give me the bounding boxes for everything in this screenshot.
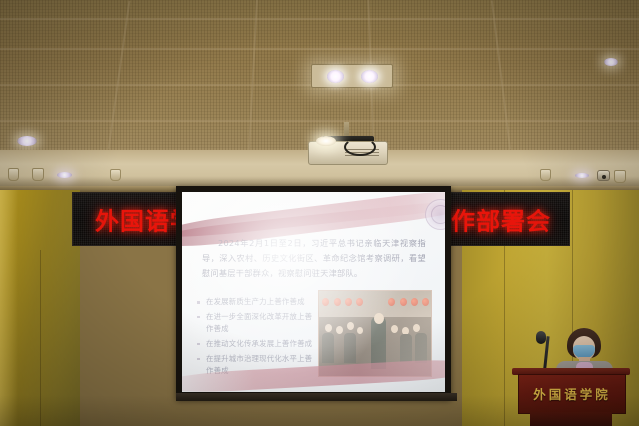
ceiling-speaker-4 xyxy=(540,169,551,181)
ceiling-downlight-right xyxy=(604,58,618,66)
presentation-slide: 2024年2月1日至2日，习近平总书记亲临天津视察指导，深入农村、历史文化街区、… xyxy=(182,192,445,392)
ceiling-speaker-3 xyxy=(110,169,121,181)
university-seal-icon xyxy=(425,199,445,230)
conference-hall-photo: 外国语学院2023 学期工作部署会 2024年2月1日至2日，习近平总书记亲临天… xyxy=(0,0,639,426)
podium: 外国语学院 xyxy=(512,368,630,426)
list-item: 在发展新质生产力上善作善成 xyxy=(195,296,317,308)
podium-name-plate: 外国语学院 xyxy=(519,384,625,403)
slide-paragraph: 2024年2月1日至2日，习近平总书记亲临天津视察指导，深入农村、历史文化街区、… xyxy=(202,236,426,281)
ceiling-speaker-5 xyxy=(614,170,626,183)
list-item: 在推动文化传承发展上善作善成 xyxy=(195,338,317,350)
wall-camera xyxy=(597,170,610,181)
wall-left-highlight xyxy=(0,190,18,426)
podium-base xyxy=(530,412,612,426)
soffit-light-1 xyxy=(57,172,72,178)
podium-front-panel: 外国语学院 xyxy=(518,374,626,414)
projector-lens xyxy=(316,136,336,146)
ceiling-speaker-2 xyxy=(32,168,44,181)
list-item: 在进一步全面深化改革开放上善作善成 xyxy=(195,311,317,335)
microphone-head xyxy=(536,331,546,344)
ceiling-speaker-1 xyxy=(8,168,19,181)
projection-screen-sill xyxy=(176,393,457,401)
projector-cable xyxy=(344,138,376,156)
soffit-light-2 xyxy=(575,173,589,178)
ceiling-light-fixture-center xyxy=(311,64,393,88)
ceiling-downlight-left xyxy=(17,136,37,146)
